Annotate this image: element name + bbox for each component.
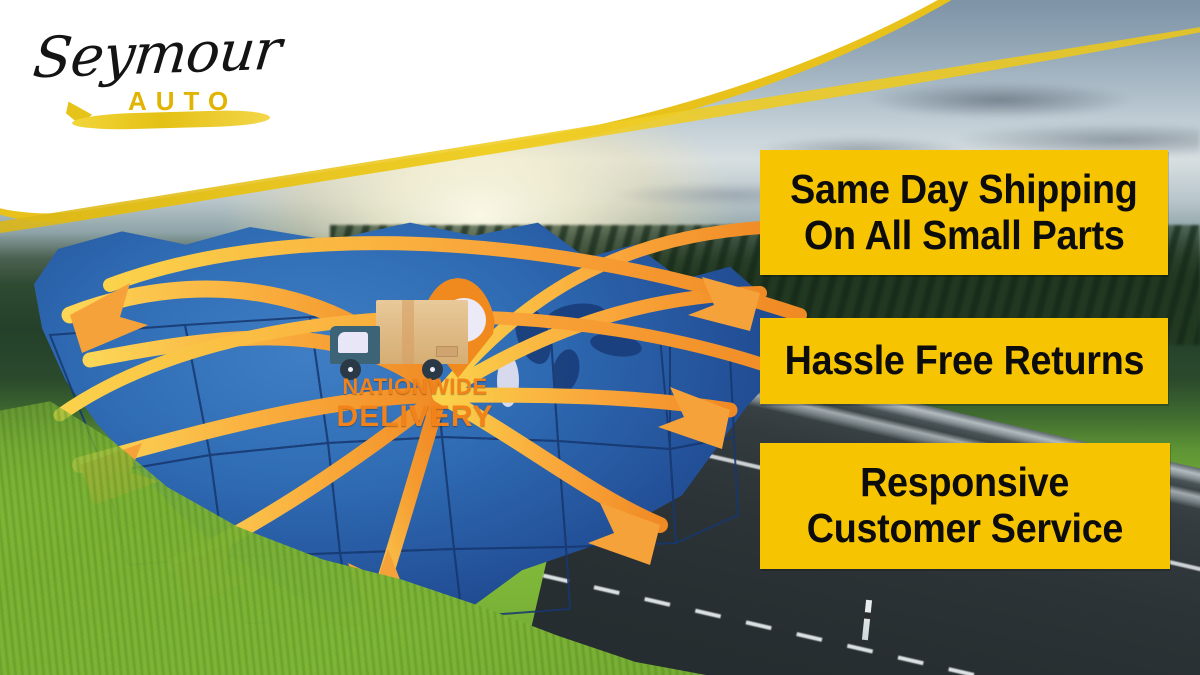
feature-2-line-1: Hassle Free Returns xyxy=(784,338,1144,384)
truck-cargo-box xyxy=(376,300,468,364)
truck-cargo-label xyxy=(436,346,458,357)
feature-1-line-1: Same Day Shipping xyxy=(790,167,1137,213)
badge-caption-line-2: DELIVERY xyxy=(332,402,498,432)
logo-subtitle: AUTO xyxy=(128,86,237,117)
delivery-truck-icon xyxy=(330,300,470,378)
badge-caption: NATIONWIDE DELIVERY xyxy=(332,376,498,432)
feature-box-same-day-shipping[interactable]: Same Day Shipping On All Small Parts xyxy=(760,150,1168,275)
feature-1-line-2: On All Small Parts xyxy=(804,213,1125,259)
badge-caption-line-1: NATIONWIDE xyxy=(332,376,498,398)
feature-3-line-2: Customer Service xyxy=(807,506,1123,552)
promo-banner: Seymour AUTO NATIONWIDE DELIVERY Same Da… xyxy=(0,0,1200,675)
feature-3-line-1: Responsive xyxy=(861,460,1070,506)
nationwide-delivery-badge: NATIONWIDE DELIVERY xyxy=(330,278,500,448)
seymour-auto-logo[interactable]: Seymour AUTO xyxy=(28,20,288,130)
feature-box-hassle-free-returns[interactable]: Hassle Free Returns xyxy=(760,318,1168,404)
feature-box-responsive-customer-service[interactable]: Responsive Customer Service xyxy=(760,443,1170,569)
logo-wordmark: Seymour xyxy=(30,18,284,92)
truck-window xyxy=(338,332,368,353)
